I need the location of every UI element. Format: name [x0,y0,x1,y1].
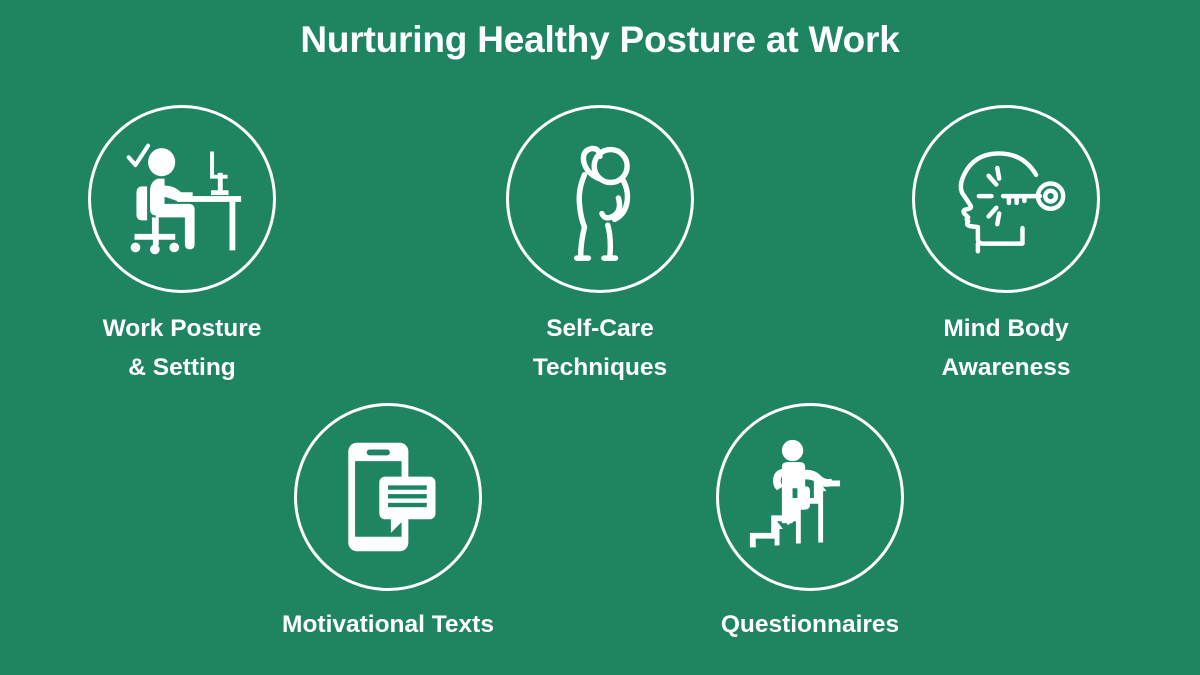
person-stretching-icon [537,136,663,262]
feature-caption-self-care: Self-Care Techniques [470,309,730,387]
person-climbing-stairs-icon [747,434,873,560]
icon-circle-motivational-texts [294,403,482,591]
head-profile-key-icon [943,136,1069,262]
slide-canvas: Nurturing Healthy Posture at Work [0,0,1200,675]
icon-circle-mind-body [912,105,1100,293]
feature-item-work-posture[interactable]: Work Posture & Setting [52,105,312,387]
feature-caption-questionnaires: Questionnaires [680,605,940,644]
feature-caption-motivational-texts: Motivational Texts [258,605,518,644]
icon-circle-work-posture [88,105,276,293]
icon-circle-questionnaires [716,403,904,591]
desk-worker-ergonomic-icon [119,136,245,262]
feature-item-mind-body[interactable]: Mind Body Awareness [876,105,1136,387]
icon-circle-self-care [506,105,694,293]
phone-message-bubble-icon [325,434,451,560]
feature-caption-mind-body: Mind Body Awareness [876,309,1136,387]
feature-item-self-care[interactable]: Self-Care Techniques [470,105,730,387]
feature-item-questionnaires[interactable]: Questionnaires [680,403,940,644]
page-title: Nurturing Healthy Posture at Work [0,18,1200,62]
feature-caption-work-posture: Work Posture & Setting [52,309,312,387]
feature-item-motivational-texts[interactable]: Motivational Texts [258,403,518,644]
